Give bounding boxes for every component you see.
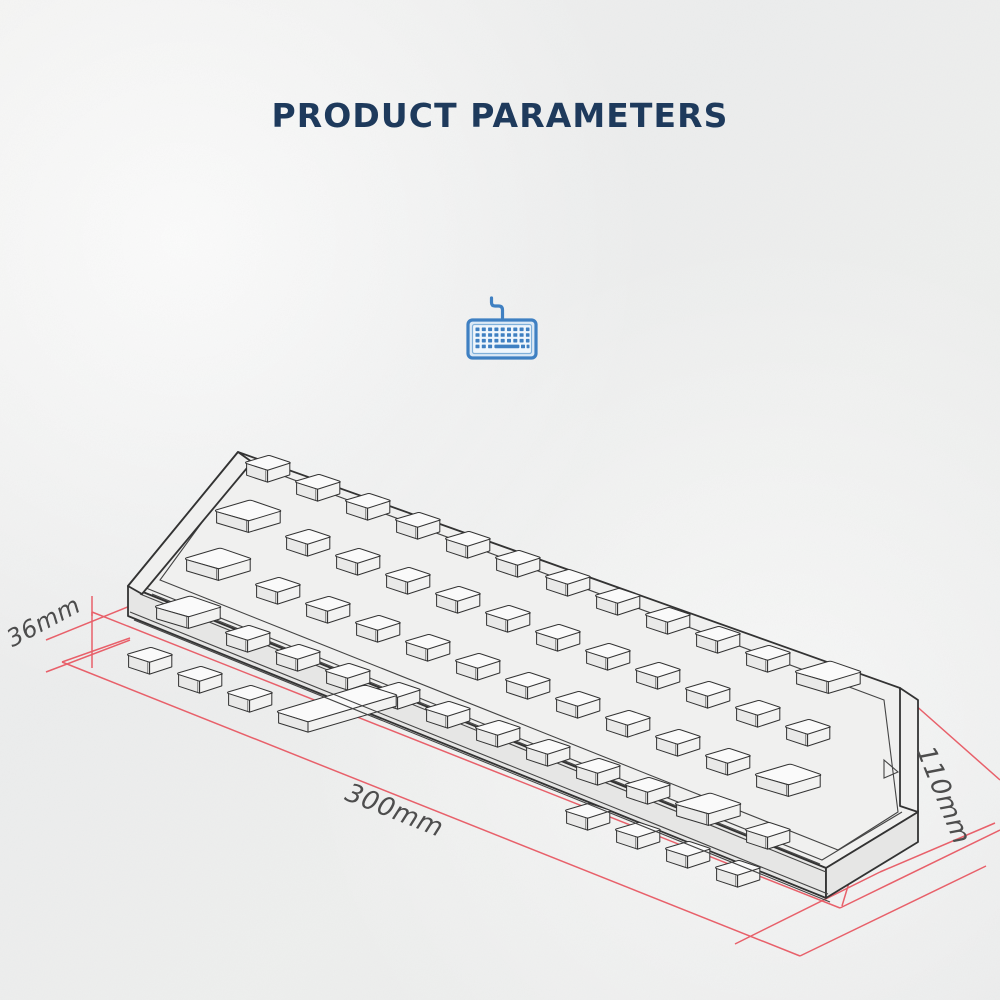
- keyboard-isometric-technical-drawing: .kl { fill:#f2f2f1; stroke:#333333; stro…: [0, 0, 1000, 1000]
- product-parameters-page: PRODUCT PARAMETERS: [0, 0, 1000, 1000]
